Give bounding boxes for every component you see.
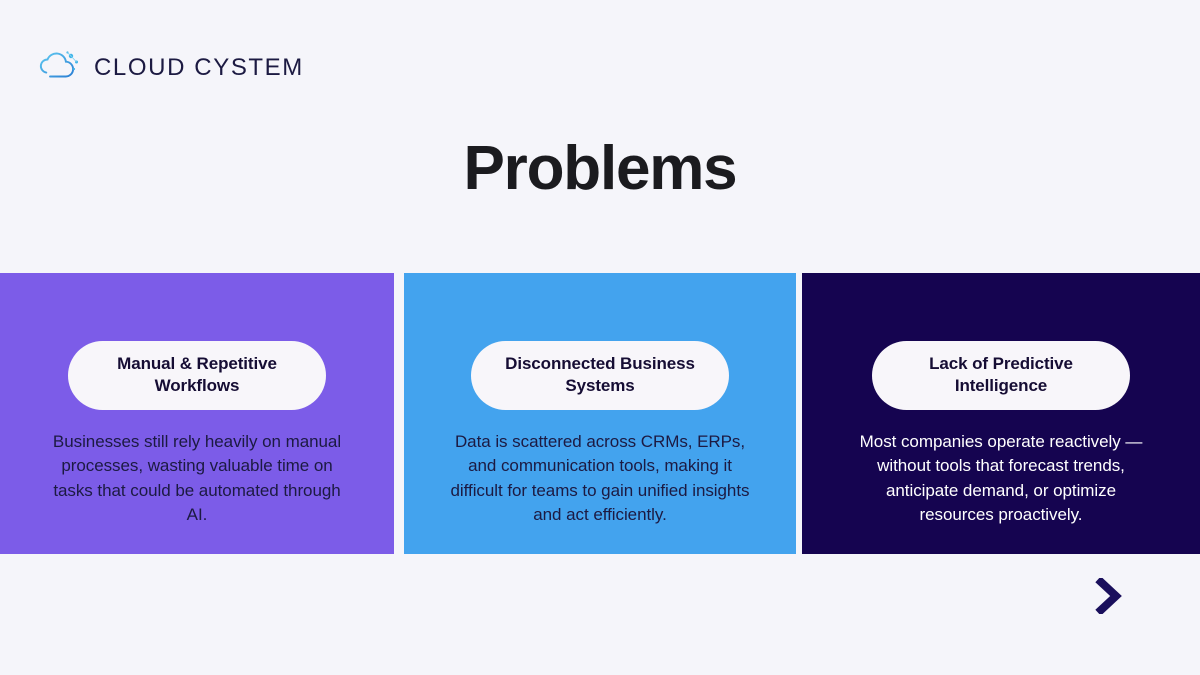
card-label: Lack of Predictive Intelligence (872, 341, 1130, 410)
problem-card-disconnected-systems[interactable]: Disconnected Business Systems Data is sc… (404, 273, 796, 554)
slide-root: CLOUD CYSTEM Problems Manual & Repetitiv… (0, 0, 1200, 675)
brand-logo: CLOUD CYSTEM (30, 47, 304, 89)
card-label: Manual & Repetitive Workflows (68, 341, 326, 410)
card-body: Businesses still rely heavily on manual … (47, 430, 347, 528)
card-label: Disconnected Business Systems (471, 341, 729, 410)
chevron-right-icon[interactable] (1090, 576, 1128, 616)
page-title: Problems (0, 136, 1200, 201)
cloud-speed-icon (30, 49, 82, 87)
problem-card-predictive-intelligence[interactable]: Lack of Predictive Intelligence Most com… (802, 273, 1200, 554)
problem-card-manual-workflows[interactable]: Manual & Repetitive Workflows Businesses… (0, 273, 394, 554)
card-body: Most companies operate reactively — with… (851, 430, 1151, 528)
problem-cards: Manual & Repetitive Workflows Businesses… (0, 273, 1200, 554)
card-body: Data is scattered across CRMs, ERPs, and… (445, 430, 755, 528)
brand-name: CLOUD CYSTEM (94, 56, 304, 80)
